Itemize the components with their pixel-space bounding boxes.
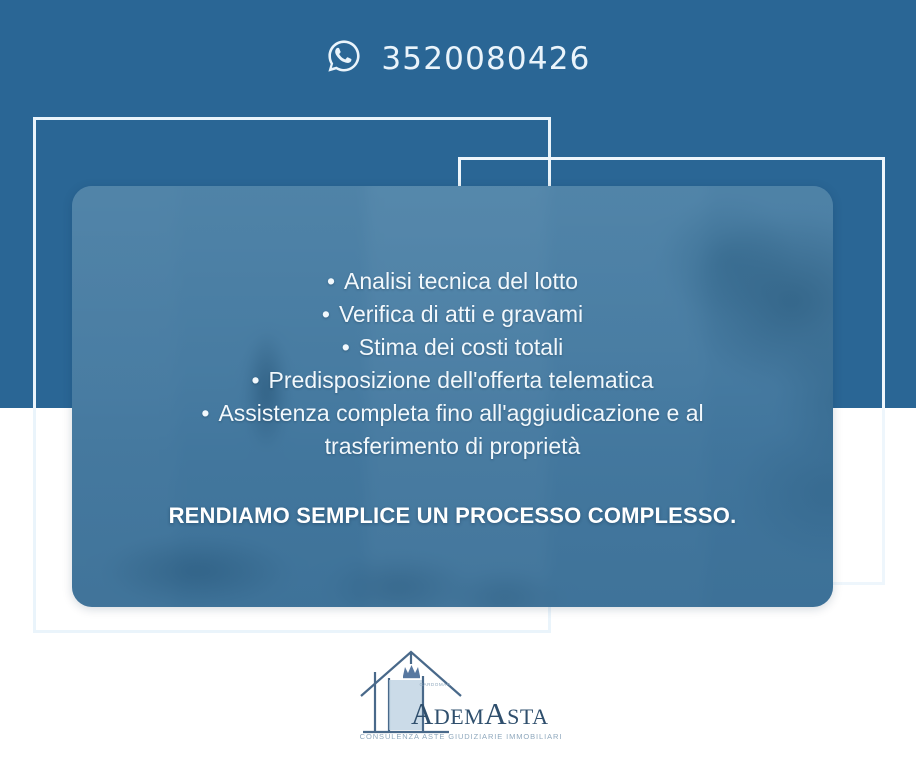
logo-crown-label: GARDOMAR (407, 682, 463, 687)
logo-subtitle: CONSULENZA ASTE GIUDIZIARIE IMMOBILIARI (359, 732, 563, 741)
brand-logo: GARDOMAR AdemAsta CONSULENZA ASTE GIUDIZ… (0, 645, 916, 755)
list-item: Assistenza completa fino all'aggiudicazi… (143, 397, 763, 463)
tagline: RENDIAMO SEMPLICE UN PROCESSO COMPLESSO. (169, 503, 737, 529)
whatsapp-icon[interactable] (325, 37, 363, 80)
list-item: Stima dei costi totali (143, 331, 763, 364)
poster-canvas: 3520080426 Analisi tecnica del lotto Ver… (0, 0, 916, 768)
list-item: Verifica di atti e gravami (143, 298, 763, 331)
list-item: Predisposizione dell'offerta telematica (143, 364, 763, 397)
logo-wordmark: AdemAsta (411, 696, 548, 732)
content-card: Analisi tecnica del lotto Verifica di at… (72, 186, 833, 607)
phone-number[interactable]: 3520080426 (381, 41, 590, 77)
service-list: Analisi tecnica del lotto Verifica di at… (143, 265, 763, 463)
header-contact: 3520080426 (0, 0, 916, 117)
list-item: Analisi tecnica del lotto (143, 265, 763, 298)
